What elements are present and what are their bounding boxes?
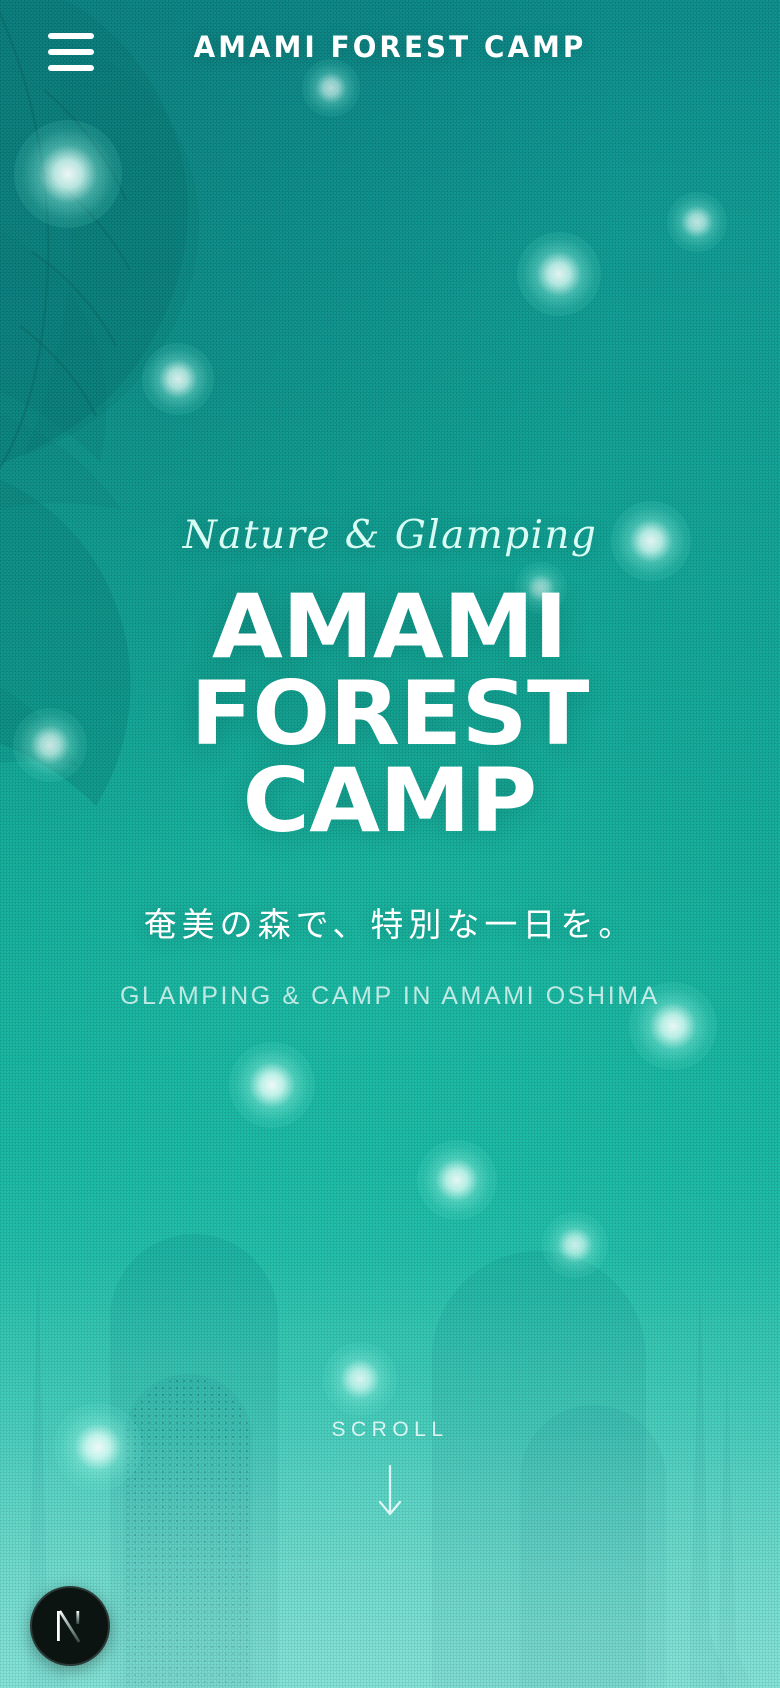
site-brand-logo[interactable]: AMAMI FOREST CAMP (16, 30, 765, 64)
title-line-2: FOREST (191, 670, 590, 757)
scroll-label: SCROLL (0, 1418, 780, 1442)
nextjs-n-glyph (48, 1604, 92, 1648)
title-line-1: AMAMI (191, 583, 590, 670)
hero-subtitle-japanese: 奄美の森で、特別な一日を。 (144, 898, 637, 946)
site-header: AMAMI FOREST CAMP (0, 0, 780, 104)
title-line-3: CAMP (191, 757, 590, 844)
hero-eyebrow: Nature & Glamping (183, 516, 598, 555)
arrow-down-icon (377, 1464, 403, 1520)
hamburger-bar-3 (48, 65, 94, 71)
scroll-indicator[interactable]: SCROLL (0, 1418, 780, 1520)
page-title: AMAMI FOREST CAMP (198, 583, 581, 844)
nextjs-logo-icon[interactable] (30, 1586, 110, 1666)
hero-tagline-english: GLAMPING & CAMP IN AMAMI OSHIMA (120, 982, 660, 1011)
